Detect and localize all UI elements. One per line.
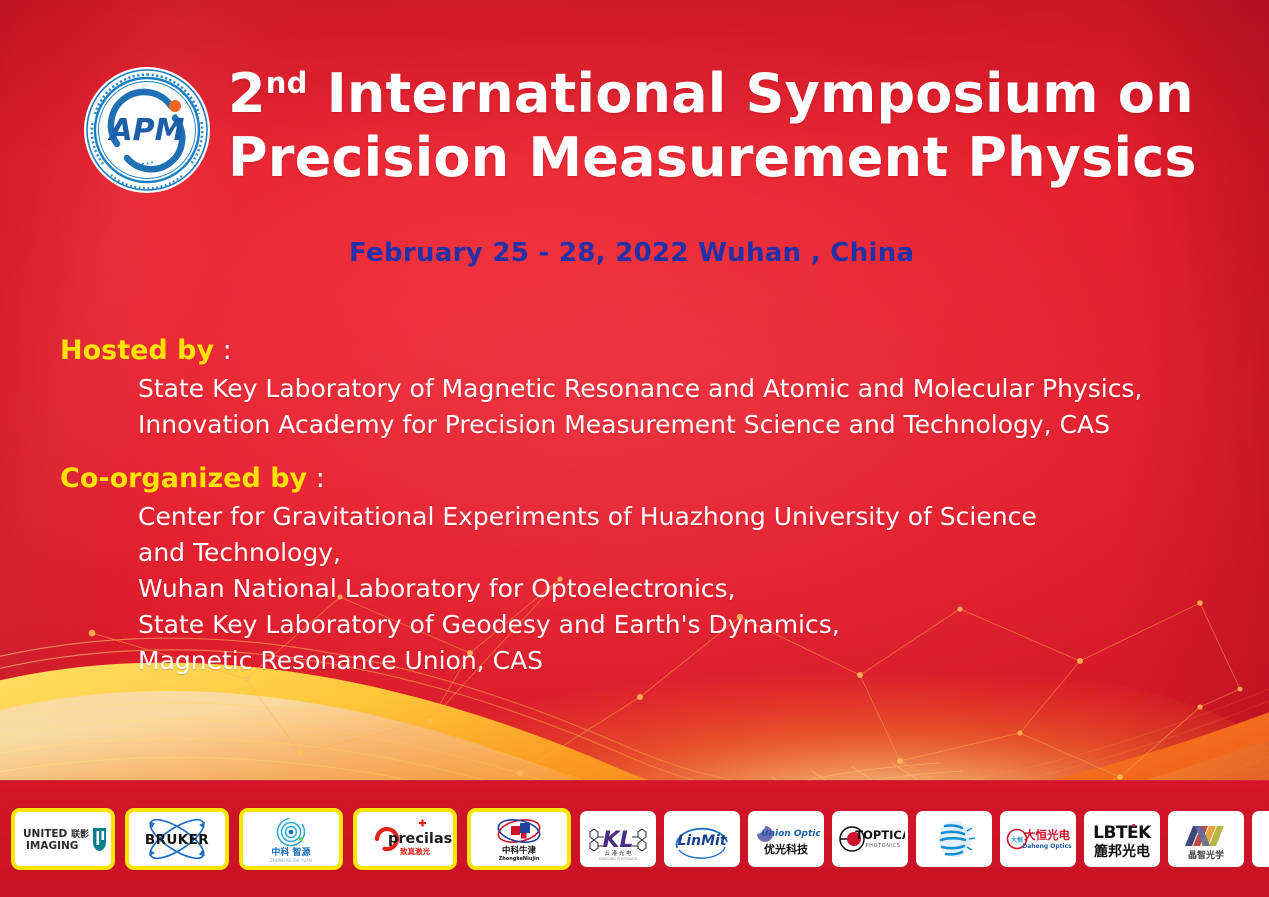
precilasers-wordmark: precilasers [388, 831, 453, 847]
svg-text:ZhongkeNiujin: ZhongkeNiujin [499, 856, 540, 862]
hosted-by-label: Hosted by [60, 335, 214, 366]
hosted-by-line: Innovation Academy for Precision Measure… [138, 407, 1240, 443]
sponsor-logo-precilasers[interactable]: precilasers 致真激光 [353, 808, 457, 870]
sponsor-logo-united-imaging[interactable]: UNITED 联影 IMAGING [11, 808, 115, 870]
ellipse-squares-icon: 中科牛津 ZhongkeNiujin [471, 812, 567, 866]
sponsor-logo-linmit[interactable]: LinMit [664, 811, 740, 867]
co-organized-by-group: Co-organized by : Center for Gravitation… [60, 461, 1240, 679]
sponsor-logo-jingzhi-optics[interactable]: 晶智光学 [1168, 811, 1244, 867]
apm-wordmark: APM [107, 113, 184, 148]
sponsor-logo-kl-photonics[interactable]: KL 云 港 光 电 YUNGANG PHOTONICS [580, 811, 656, 867]
kl-hexagon-icon: KL 云 港 光 电 YUNGANG PHOTONICS [583, 814, 653, 864]
svg-text:ZHONG KE ZHI YUAN: ZHONG KE ZHI YUAN [270, 858, 312, 863]
svg-text:致真激光: 致真激光 [400, 846, 430, 856]
union-optic-wordmark: Union Optic [761, 829, 821, 839]
sponsor-logo-strip: UNITED 联影 IMAGING [0, 780, 1269, 897]
co-organized-by-line: State Key Laboratory of Geodesy and Eart… [138, 607, 1240, 643]
hosted-by-colon: : [214, 335, 232, 366]
svg-text:YUNGANG PHOTONICS: YUNGANG PHOTONICS [599, 857, 637, 861]
sponsor-logo-lbtek[interactable]: LBTEK 簏邦光电 [1084, 811, 1160, 867]
co-organized-by-colon: : [307, 463, 325, 494]
svg-text:大恒光电: 大恒光电 [1024, 828, 1070, 842]
sponsor-logo-zhongke-niujin[interactable]: 中科牛津 ZhongkeNiujin [467, 808, 571, 870]
sponsor-logo-globe-optics[interactable] [916, 811, 992, 867]
co-organized-by-line: Magnetic Resonance Union, CAS [138, 643, 1240, 679]
svg-text:优光科技: 优光科技 [764, 842, 809, 856]
svg-text:中科牛津: 中科牛津 [502, 845, 537, 856]
linmit-arc-icon: LinMit [667, 814, 737, 864]
hosted-by-line: State Key Laboratory of Magnetic Resonan… [138, 371, 1240, 407]
toptica-wordmark: TOPTICA [855, 828, 905, 842]
precilasers-c-icon: precilasers 致真激光 [357, 812, 453, 866]
svg-text:PHOTONICS: PHOTONICS [866, 843, 901, 849]
sponsor-logo-daheng-optics[interactable]: 大恒 大恒光电 Daheng Optics [1000, 811, 1076, 867]
linmit-wordmark: LinMit [677, 833, 727, 849]
svg-text:联影: 联影 [71, 828, 89, 840]
poster-title: 2nd International Symposium on Precision… [228, 62, 1228, 190]
co-organized-by-heading: Co-organized by : [60, 461, 1240, 497]
kl-wordmark: KL [602, 828, 633, 853]
co-organized-by-label: Co-organized by [60, 463, 307, 494]
co-organized-by-list: Center for Gravitational Experiments of … [138, 499, 1240, 679]
svg-text:云 港 光 电: 云 港 光 电 [604, 849, 632, 857]
united-imaging-line1: UNITED [23, 828, 68, 840]
title-ordinal-number: 2 [228, 62, 266, 125]
sponsor-logo-union-optic[interactable]: Union Optic 优光科技 [748, 811, 824, 867]
bruker-atom-orbit-icon: BRUKER [129, 812, 225, 866]
sponsor-logo-lice-technology[interactable]: LPT 力策科技 [1252, 811, 1269, 867]
title-line-2: Precision Measurement Physics [228, 126, 1228, 190]
apm-circular-seal-logo: APM [83, 66, 211, 194]
conference-poster: APM 2nd International Symposium on Preci… [0, 0, 1269, 897]
concentric-circles-icon: 中科 智源 ZHONG KE ZHI YUAN [243, 812, 339, 866]
hosted-by-group: Hosted by : State Key Laboratory of Magn… [60, 333, 1240, 443]
union-optic-swoosh-icon: Union Optic 优光科技 [751, 814, 821, 864]
co-organized-by-line: Wuhan National Laboratory for Optoelectr… [138, 571, 1240, 607]
svg-text:晶智光学: 晶智光学 [1188, 849, 1224, 861]
sponsor-logo-zhongke-zhiyuan[interactable]: 中科 智源 ZHONG KE ZHI YUAN [239, 808, 343, 870]
blue-globe-icon [919, 814, 989, 864]
date-location-line: February 25 - 28, 2022 Wuhan , China [349, 238, 914, 268]
daheng-wordmark: Daheng Optics [1022, 843, 1072, 850]
bruker-wordmark: BRUKER [145, 832, 209, 848]
sponsor-logo-bruker[interactable]: BRUKER [125, 808, 229, 870]
title-line-1: 2nd International Symposium on [228, 62, 1228, 126]
co-organized-by-line: Center for Gravitational Experiments of … [138, 499, 1240, 535]
hosted-by-list: State Key Laboratory of Magnetic Resonan… [138, 371, 1240, 443]
svg-text:簏邦光电: 簏邦光电 [1094, 843, 1150, 860]
svg-text:中科 智源: 中科 智源 [271, 846, 310, 858]
lbtek-latin: LBTEK [1093, 823, 1152, 843]
united-imaging-line2: IMAGING [26, 840, 78, 852]
co-organized-by-line: and Technology, [138, 535, 1240, 571]
organizers-section: Hosted by : State Key Laboratory of Magn… [60, 333, 1240, 679]
united-imaging-shield-icon: UNITED 联影 IMAGING [15, 812, 111, 866]
sponsor-logo-toptica[interactable]: TOPTICA PHOTONICS [832, 811, 908, 867]
chevron-stack-icon: 晶智光学 [1171, 814, 1241, 864]
title-line-1-rest: International Symposium on [327, 62, 1194, 125]
title-ordinal-suffix: nd [266, 66, 308, 100]
oval-badge-icon: LPT 力策科技 [1255, 814, 1269, 864]
daheng-ring-icon: 大恒 大恒光电 Daheng Optics [1003, 814, 1073, 864]
toptica-sphere-icon: TOPTICA PHOTONICS [835, 814, 905, 864]
lbtek-wordmark-icon: LBTEK 簏邦光电 [1087, 814, 1157, 864]
hosted-by-heading: Hosted by : [60, 333, 1240, 369]
svg-text:大恒: 大恒 [1011, 836, 1023, 844]
